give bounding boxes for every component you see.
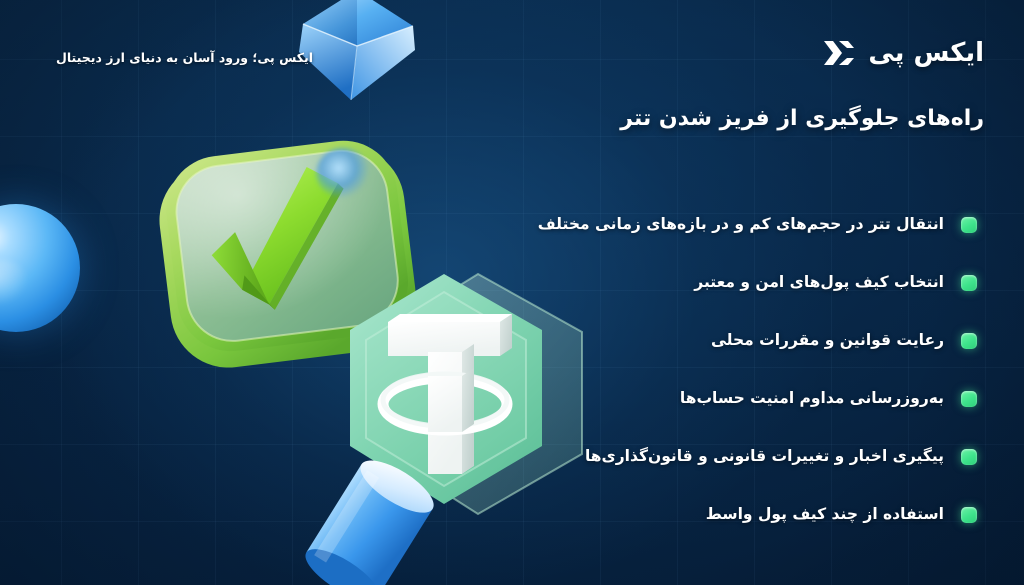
green-square-bullet-icon <box>961 391 977 407</box>
tagline: ایکس پی؛ ورود آسان به دنیای ارز دیجیتال <box>56 50 313 65</box>
list-item: به‌روزرسانی مداوم امنیت حساب‌ها <box>384 370 1024 428</box>
list-item-label: انتخاب کیف پول‌های امن و معتبر <box>694 271 944 294</box>
list-item-label: رعایت قوانین و مقررات محلی <box>711 329 944 352</box>
list-item: استفاده از چند کیف پول واسط <box>384 486 1024 544</box>
list-item-label: استفاده از چند کیف پول واسط <box>706 503 944 526</box>
poster-canvas: ایکس پی؛ ورود آسان به دنیای ارز دیجیتال … <box>0 0 1024 585</box>
green-square-bullet-icon <box>961 275 977 291</box>
list-item: پیگیری اخبار و تغییرات قانونی و قانون‌گذ… <box>384 428 1024 486</box>
list-item-label: پیگیری اخبار و تغییرات قانونی و قانون‌گذ… <box>585 445 944 468</box>
green-square-bullet-icon <box>961 507 977 523</box>
list-item: انتقال تتر در حجم‌های کم و در بازه‌های ز… <box>384 196 1024 254</box>
list-item-label: به‌روزرسانی مداوم امنیت حساب‌ها <box>680 387 944 410</box>
benefits-list: انتقال تتر در حجم‌های کم و در بازه‌های ز… <box>384 196 1024 544</box>
green-square-bullet-icon <box>961 217 977 233</box>
green-square-bullet-icon <box>961 333 977 349</box>
blue-glow-accent <box>316 148 370 198</box>
green-square-bullet-icon <box>961 449 977 465</box>
list-item-label: انتقال تتر در حجم‌های کم و در بازه‌های ز… <box>538 213 944 236</box>
page-title: راه‌های جلوگیری از فریز شدن تتر <box>620 106 984 131</box>
brand-logo[interactable]: ایکس پی <box>822 36 984 70</box>
x-logo-icon <box>822 36 856 70</box>
list-item: انتخاب کیف پول‌های امن و معتبر <box>384 254 1024 312</box>
list-item: رعایت قوانین و مقررات محلی <box>384 312 1024 370</box>
brand-name: ایکس پی <box>868 40 984 66</box>
